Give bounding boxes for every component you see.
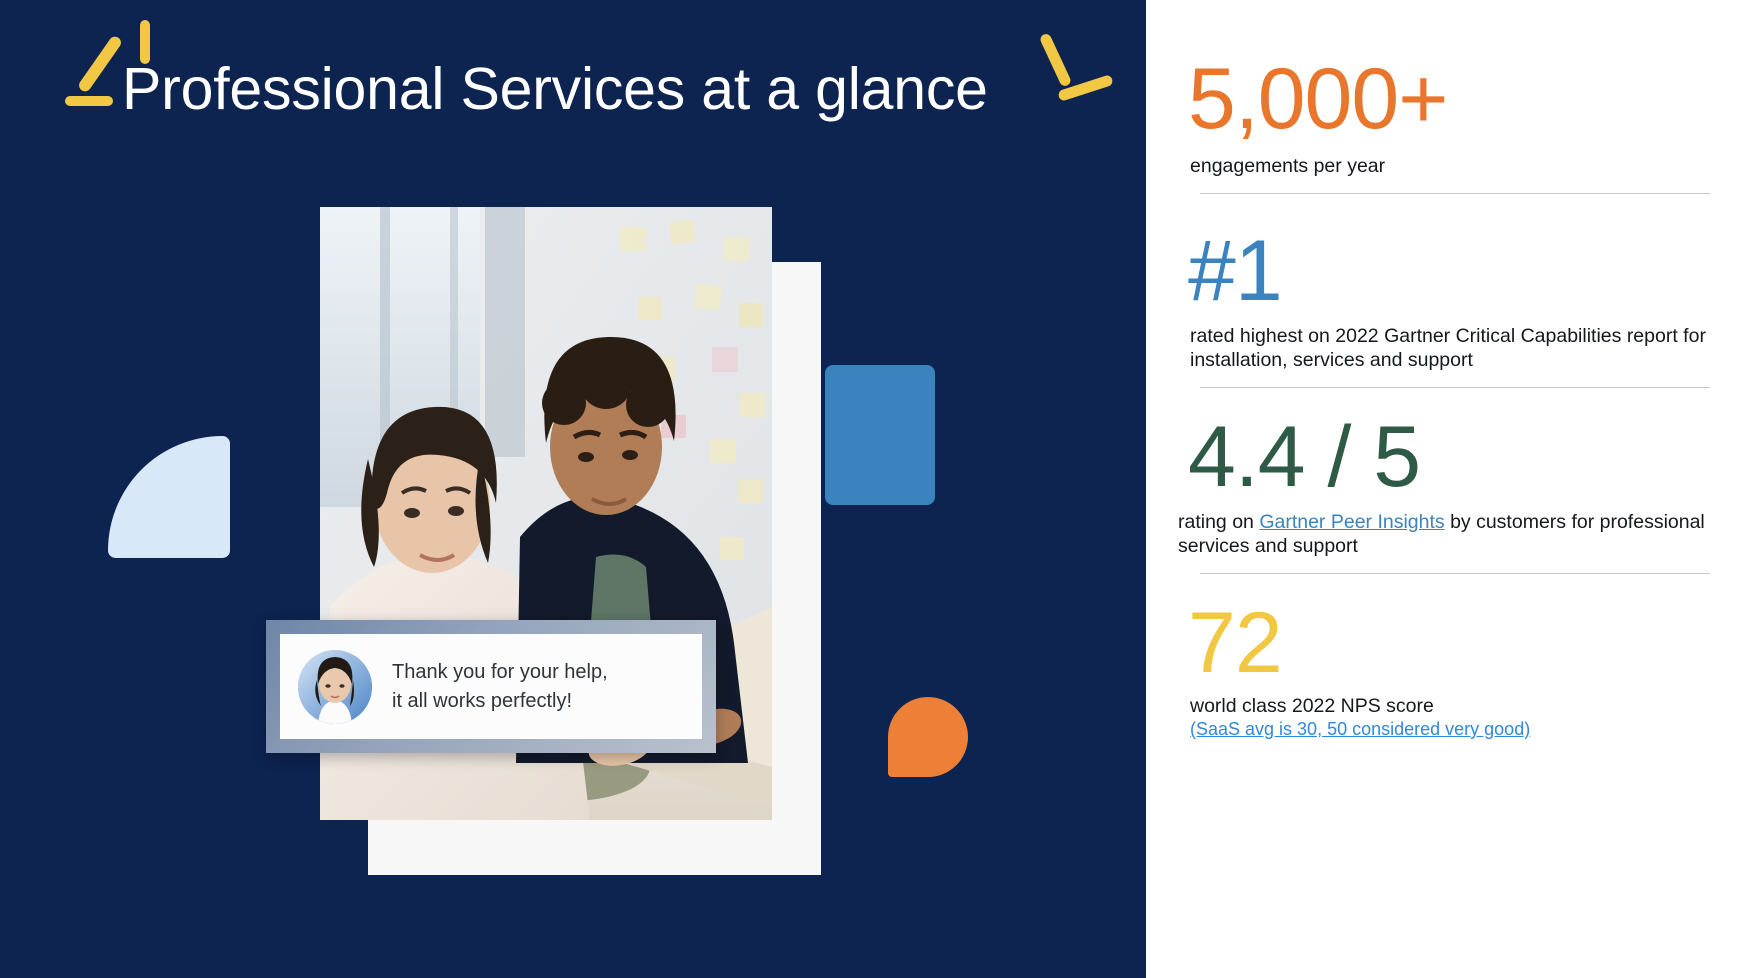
stat-caption-before: rating on: [1178, 511, 1259, 533]
stat-number: 5,000+: [1188, 56, 1710, 142]
gartner-peer-insights-link[interactable]: Gartner Peer Insights: [1259, 511, 1444, 533]
stat-number: #1: [1188, 228, 1710, 314]
slide-root: Professional Services at a glance: [0, 0, 1748, 978]
stat-caption: world class 2022 NPS score: [1190, 694, 1710, 719]
orange-blob-decoration: [888, 697, 968, 777]
divider: [1200, 193, 1710, 194]
stat-rating: 4.4 / 5 rating on Gartner Peer Insights …: [1188, 414, 1710, 574]
testimonial-card-inner: Thank you for your help, it all works pe…: [280, 634, 702, 739]
stats-panel: 5,000+ engagements per year #1 rated hig…: [1146, 0, 1748, 978]
stat-caption: rated highest on 2022 Gartner Critical C…: [1190, 324, 1710, 373]
divider: [1200, 573, 1710, 574]
quarter-circle-decoration: [108, 436, 230, 558]
sparkle-right-icon: [1012, 18, 1122, 110]
stat-engagements: 5,000+ engagements per year: [1188, 56, 1710, 194]
testimonial-card: Thank you for your help, it all works pe…: [266, 620, 716, 753]
stat-rank: #1 rated highest on 2022 Gartner Critica…: [1188, 228, 1710, 388]
page-title: Professional Services at a glance: [122, 55, 988, 123]
divider: [1200, 387, 1710, 388]
avatar: [298, 650, 372, 724]
stat-caption: engagements per year: [1190, 154, 1710, 179]
stat-nps: 72 world class 2022 NPS score (SaaS avg …: [1188, 600, 1710, 742]
nps-footnote-link[interactable]: (SaaS avg is 30, 50 considered very good…: [1190, 718, 1530, 741]
stat-number: 4.4 / 5: [1188, 414, 1710, 500]
left-panel: Professional Services at a glance: [0, 0, 1146, 978]
sparkle-left-icon: [60, 20, 160, 110]
stat-number: 72: [1188, 600, 1710, 686]
blue-rectangle-decoration: [825, 365, 935, 505]
testimonial-quote: Thank you for your help, it all works pe…: [392, 658, 608, 716]
stat-caption: rating on Gartner Peer Insights by custo…: [1178, 510, 1710, 559]
